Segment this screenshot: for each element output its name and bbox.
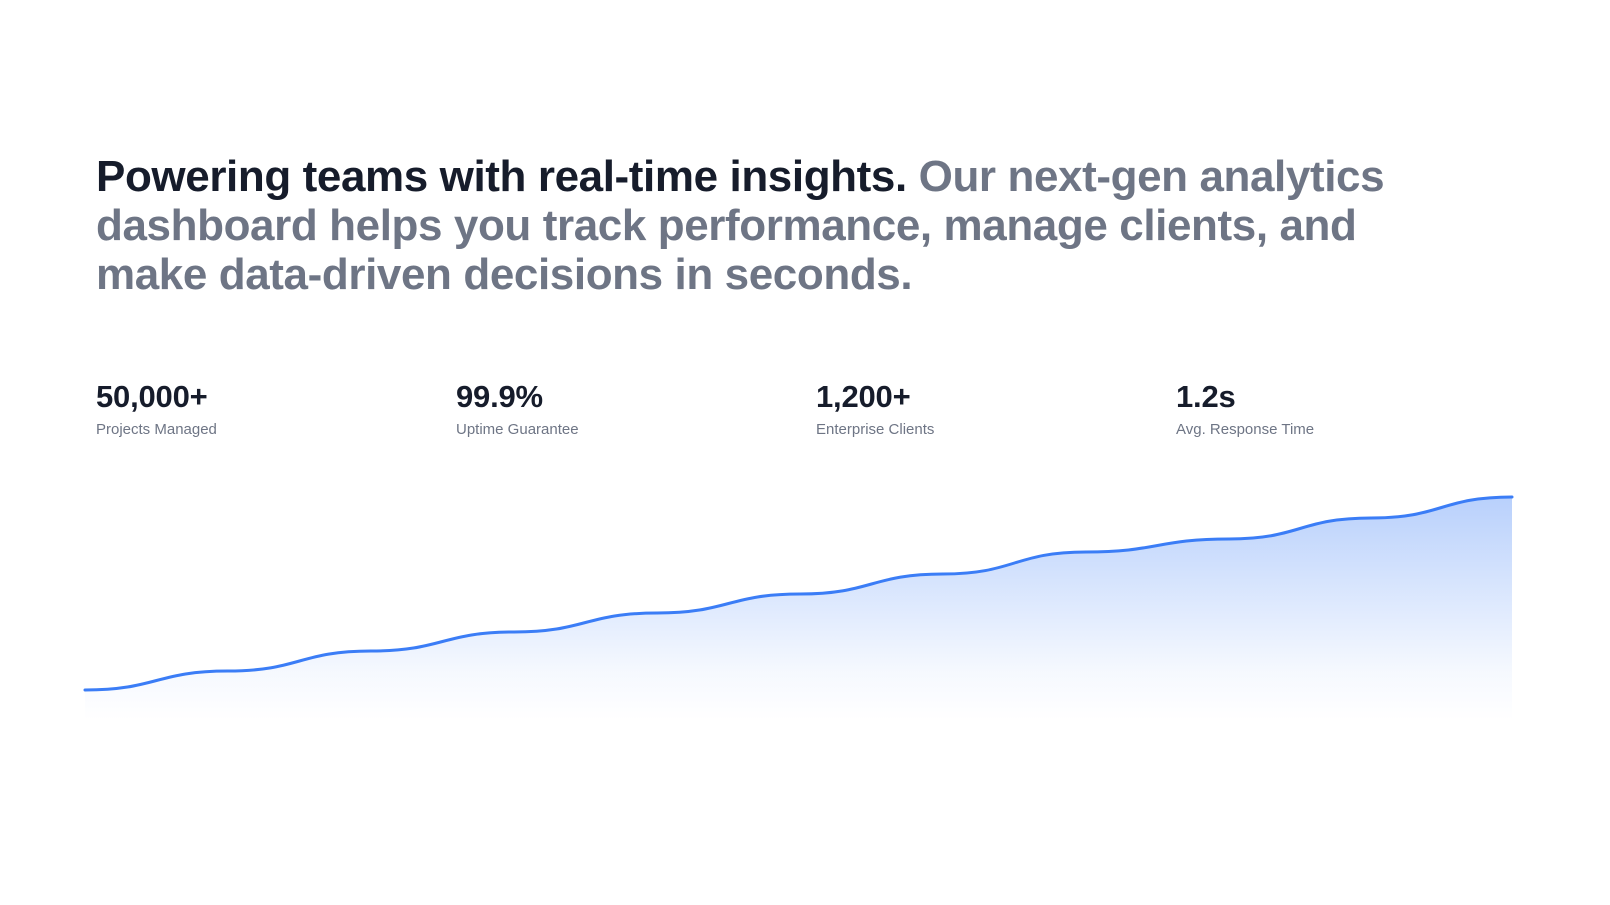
- stat-enterprise-clients: 1,200+ Enterprise Clients: [816, 378, 1176, 440]
- stat-label: Uptime Guarantee: [456, 420, 816, 440]
- headline-lead: Powering teams with real-time insights.: [96, 152, 907, 201]
- stat-projects-managed: 50,000+ Projects Managed: [96, 378, 456, 440]
- stat-uptime-guarantee: 99.9% Uptime Guarantee: [456, 378, 816, 440]
- stat-value: 50,000+: [96, 378, 456, 416]
- stat-label: Enterprise Clients: [816, 420, 1176, 440]
- hero-text-block: Powering teams with real-time insights. …: [96, 152, 1456, 299]
- stat-value: 1.2s: [1176, 378, 1536, 416]
- growth-area-chart: [0, 470, 1610, 740]
- page-title: Powering teams with real-time insights. …: [96, 152, 1456, 299]
- stat-label: Avg. Response Time: [1176, 420, 1536, 440]
- area-chart-svg: [0, 470, 1610, 740]
- stat-label: Projects Managed: [96, 420, 456, 440]
- stat-avg-response-time: 1.2s Avg. Response Time: [1176, 378, 1536, 440]
- stats-row: 50,000+ Projects Managed 99.9% Uptime Gu…: [96, 378, 1496, 440]
- stat-value: 1,200+: [816, 378, 1176, 416]
- stat-value: 99.9%: [456, 378, 816, 416]
